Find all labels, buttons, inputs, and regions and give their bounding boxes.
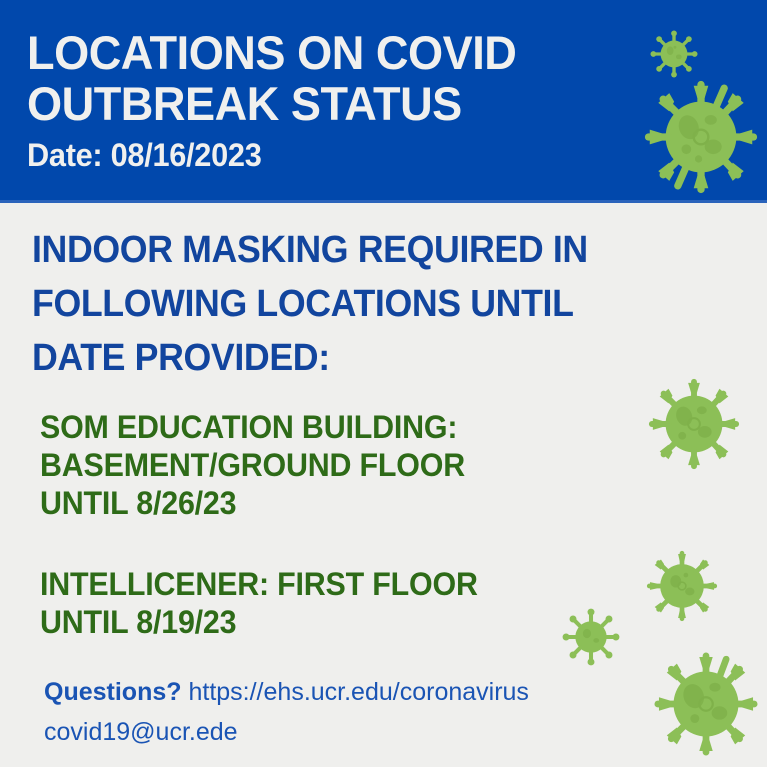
poster-canvas: LOCATIONS ON COVID OUTBREAK STATUS Date:… (0, 0, 767, 767)
contact-email-link[interactable]: covid19@ucr.ede (44, 718, 238, 746)
footer-url-line: Questions? https://ehs.ucr.edu/coronavir… (44, 672, 664, 712)
page-title-line-2: OUTBREAK STATUS (27, 78, 603, 129)
location-entry: SOM EDUCATION BUILDING: BASEMENT/GROUND … (40, 408, 648, 522)
location-until: UNTIL 8/19/23 (40, 603, 648, 641)
headline-line-3: DATE PROVIDED: (32, 331, 671, 385)
location-area: BASEMENT/GROUND FLOOR (40, 446, 648, 484)
coronavirus-icon (650, 30, 698, 78)
header-text-block: LOCATIONS ON COVID OUTBREAK STATUS Date:… (27, 27, 627, 173)
page-title-line-1: LOCATIONS ON COVID (27, 27, 603, 78)
footer-contact: Questions? https://ehs.ucr.edu/coronavir… (44, 672, 664, 752)
headline-line-2: FOLLOWING LOCATIONS UNTIL (32, 277, 671, 331)
coronavirus-icon (650, 648, 762, 760)
footer-email-line: covid19@ucr.ede (44, 712, 664, 752)
headline: INDOOR MASKING REQUIRED IN FOLLOWING LOC… (32, 223, 671, 385)
coronavirus-icon (645, 375, 743, 473)
location-name: INTELLICENER: FIRST FLOOR (40, 565, 648, 603)
questions-label: Questions? (44, 678, 182, 706)
headline-line-1: INDOOR MASKING REQUIRED IN (32, 223, 671, 277)
location-entry: INTELLICENER: FIRST FLOOR UNTIL 8/19/23 (40, 565, 648, 641)
ehs-url-link[interactable]: https://ehs.ucr.edu/coronavirus (188, 678, 528, 706)
notice-date: Date: 08/16/2023 (27, 137, 603, 173)
body-section: INDOOR MASKING REQUIRED IN FOLLOWING LOC… (0, 203, 767, 767)
header-banner: LOCATIONS ON COVID OUTBREAK STATUS Date:… (0, 0, 767, 200)
coronavirus-icon (643, 547, 721, 625)
coronavirus-icon (640, 76, 762, 198)
location-name: SOM EDUCATION BUILDING: (40, 408, 648, 446)
location-until: UNTIL 8/26/23 (40, 484, 648, 522)
